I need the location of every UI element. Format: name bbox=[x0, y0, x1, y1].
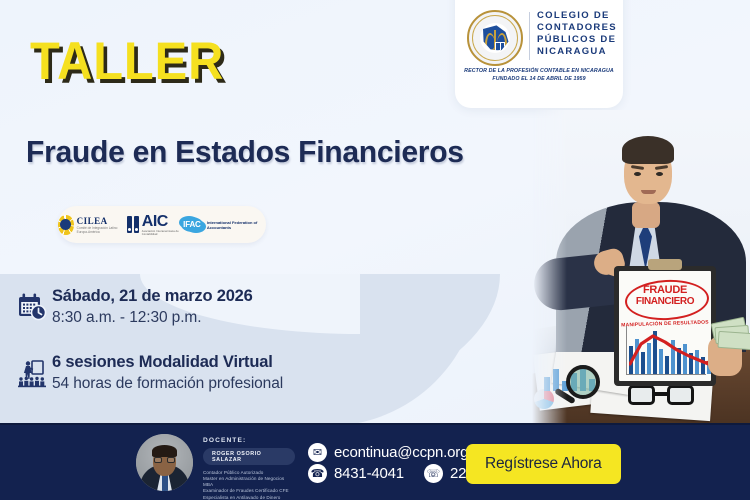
partner-logo-strip: CILEA Comité de Integración Latino Europ… bbox=[58, 206, 266, 243]
telephone-icon: ☏ bbox=[424, 464, 443, 483]
instructor-label: DOCENTE: bbox=[203, 437, 295, 444]
calendar-clock-icon bbox=[12, 292, 52, 322]
footer-bar: DOCENTE: ROGER OSORIO SALAZAR Contador P… bbox=[0, 423, 750, 500]
avatar-glasses-icon bbox=[154, 457, 175, 463]
kicker-taller: TALLER bbox=[30, 34, 224, 90]
photo-eye-right bbox=[656, 172, 663, 176]
contact-email[interactable]: econtinua@ccpn.org.ni bbox=[334, 444, 483, 461]
cilea-label: CILEA bbox=[77, 216, 128, 226]
detail-row-sessions: 6 sesiones Modalidad Virtual 54 horas de… bbox=[12, 352, 283, 394]
photo-clipboard: FRAUDE FINANCIERO MANIPULACIÓN DE RESULT… bbox=[614, 266, 716, 386]
tagline-line-1: RECTOR DE LA PROFESIÓN CONTABLE EN NICAR… bbox=[461, 68, 617, 76]
tagline-line-2: FUNDADO EL 14 DE ABRIL DE 1959 bbox=[461, 76, 617, 84]
register-button[interactable]: Regístrese Ahora bbox=[466, 444, 621, 484]
photo-neck bbox=[632, 202, 660, 228]
promotional-flyer: COLEGIO DE CONTADORES PÚBLICOS DE NICARA… bbox=[0, 0, 750, 500]
organization-name: COLEGIO DE CONTADORES PÚBLICOS DE NICARA… bbox=[537, 10, 617, 58]
photo-magnifier bbox=[566, 365, 600, 399]
classroom-training-icon bbox=[12, 358, 52, 388]
clipboard-trend-arrow bbox=[629, 330, 711, 372]
caduceus-crest-icon bbox=[467, 10, 523, 66]
event-time: 8:30 a.m. - 12:30 p.m. bbox=[52, 307, 253, 328]
clipboard-sheet: FRAUDE FINANCIERO MANIPULACIÓN DE RESULT… bbox=[619, 271, 711, 381]
partner-logo-aic: AIC Asociación Interamericana de Contabi… bbox=[127, 214, 181, 236]
instructor-avatar bbox=[136, 434, 193, 491]
clipboard-bar-chart bbox=[626, 326, 706, 375]
page-title: Fraude en Estados Financieros bbox=[26, 133, 464, 171]
training-hours: 54 horas de formación profesional bbox=[52, 373, 283, 394]
photo-pie-chart bbox=[534, 389, 554, 409]
sign-text-fraude: FRAUDE bbox=[619, 284, 711, 296]
sign-text-financiero: FINANCIERO bbox=[619, 296, 711, 307]
detail-row-date: Sábado, 21 de marzo 2026 8:30 a.m. - 12:… bbox=[12, 286, 253, 328]
event-date: Sábado, 21 de marzo 2026 bbox=[52, 286, 253, 307]
partner-logo-cilea: CILEA Comité de Integración Latino Europ… bbox=[58, 215, 127, 235]
logo-divider bbox=[529, 12, 530, 60]
instructor-credentials: Contador Público Autorizado Master en Ad… bbox=[203, 470, 295, 500]
ifac-subtitle: International Federation of Accountants bbox=[207, 220, 266, 230]
aic-subtitle: Asociación Interamericana de Contabilida… bbox=[142, 230, 181, 236]
envelope-icon: ✉ bbox=[308, 443, 327, 462]
instructor-name-badge: ROGER OSORIO SALAZAR bbox=[203, 448, 295, 465]
organization-logo-card: COLEGIO DE CONTADORES PÚBLICOS DE NICARA… bbox=[455, 0, 623, 108]
session-count: 6 sesiones Modalidad Virtual bbox=[52, 352, 283, 373]
partner-logo-ifac: IFAC International Federation of Account… bbox=[181, 217, 266, 232]
photo-eyeglasses bbox=[628, 385, 694, 407]
photo-mouth bbox=[641, 190, 656, 194]
phone-handset-icon: ☎ bbox=[308, 464, 327, 483]
ifac-label: IFAC bbox=[181, 217, 203, 232]
contact-mobile[interactable]: 8431-4041 bbox=[334, 465, 404, 482]
aic-label: AIC bbox=[142, 214, 181, 230]
photo-banknotes bbox=[712, 320, 750, 350]
photo-eye-left bbox=[634, 172, 641, 176]
aic-bars-icon bbox=[127, 216, 139, 233]
organization-tagline: RECTOR DE LA PROFESIÓN CONTABLE EN NICAR… bbox=[461, 68, 617, 83]
instructor-block: DOCENTE: ROGER OSORIO SALAZAR Contador P… bbox=[203, 437, 295, 500]
instructor-photo-illustration: FRAUDE FINANCIERO MANIPULACIÓN DE RESULT… bbox=[532, 110, 750, 425]
photo-hair bbox=[622, 136, 674, 164]
cilea-subtitle: Comité de Integración Latino Europa-Amér… bbox=[77, 226, 128, 234]
cilea-sun-icon bbox=[58, 215, 74, 235]
